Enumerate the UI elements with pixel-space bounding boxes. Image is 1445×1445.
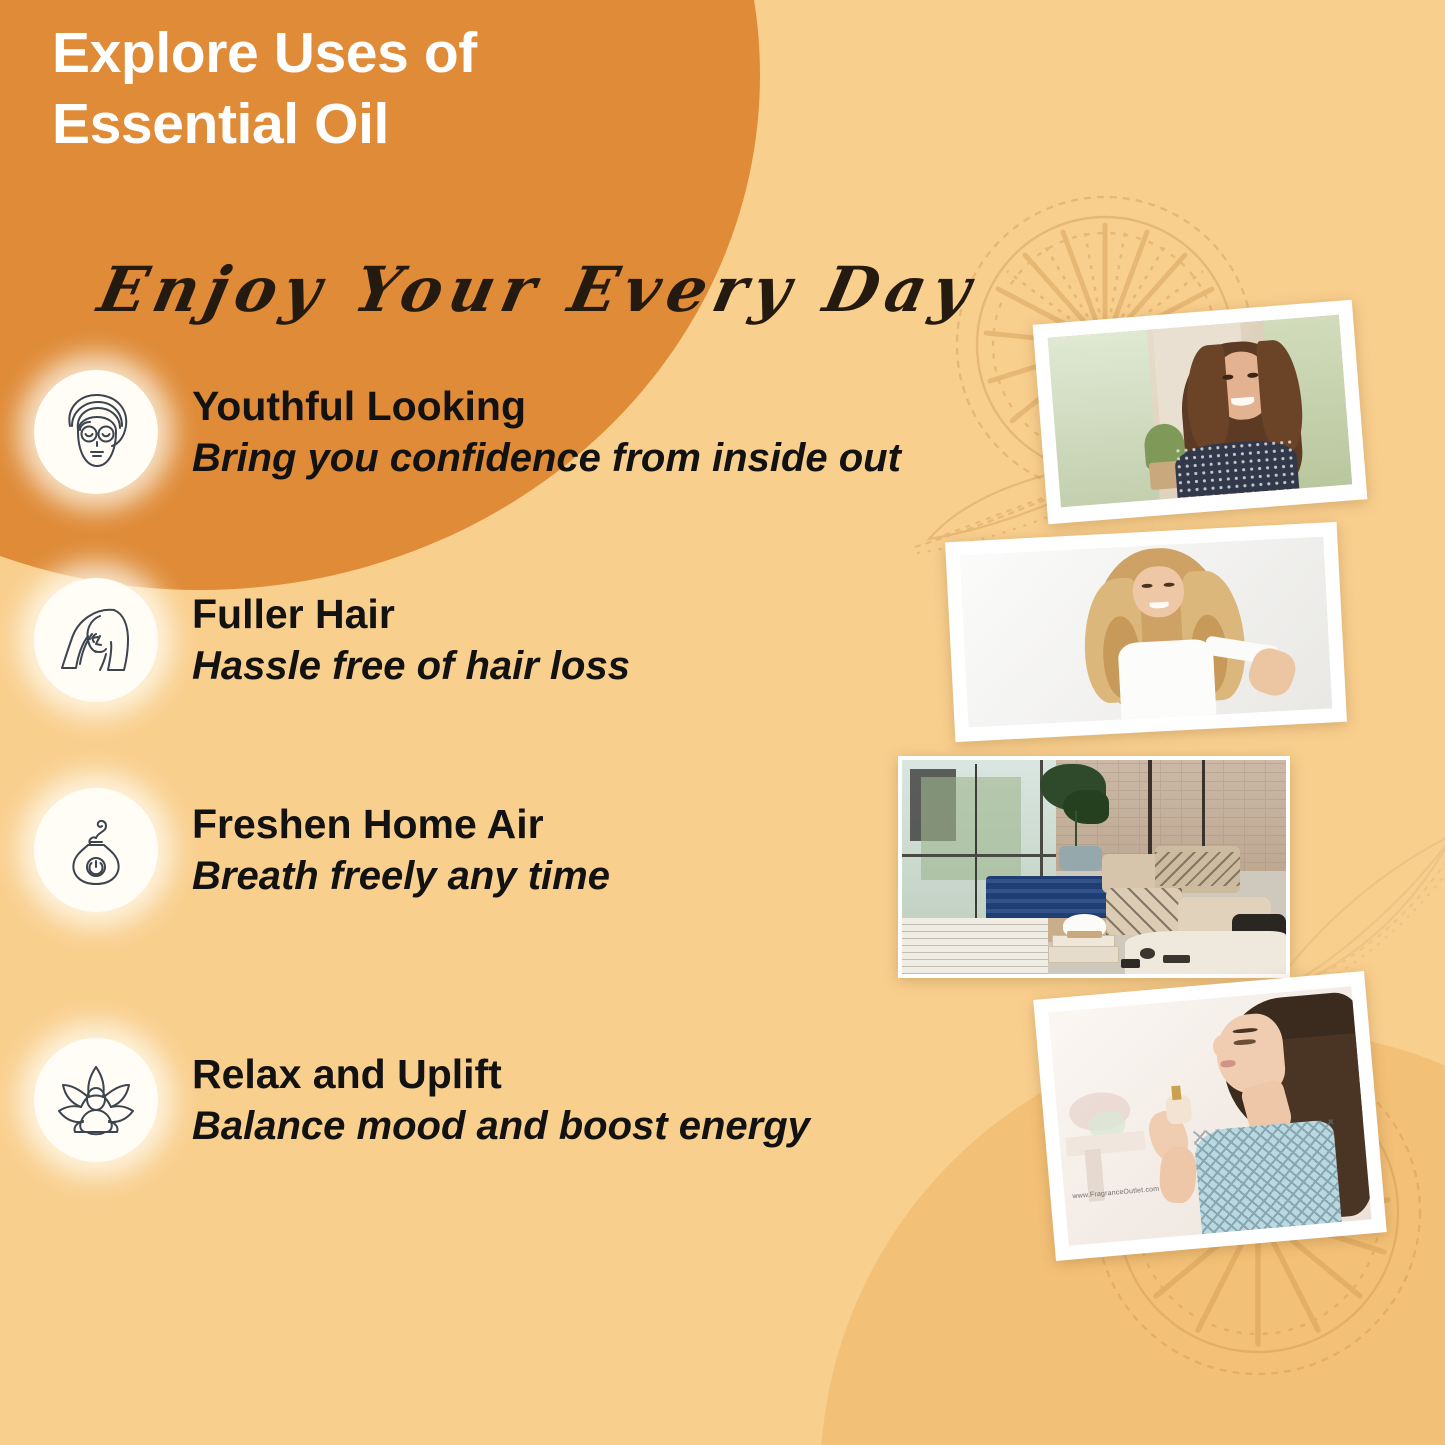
- tagline: Enjoy Your Every Day: [92, 253, 984, 326]
- benefit-text-freshen-home-air: Freshen Home Air Breath freely any time: [192, 800, 610, 899]
- photo-woman-applying-perfume: www.FragranceOutlet.com: [1033, 971, 1387, 1261]
- photo-smiling-woman: [1033, 300, 1368, 524]
- benefit-subtitle: Breath freely any time: [192, 852, 610, 900]
- benefit-title: Youthful Looking: [192, 382, 901, 430]
- benefit-title: Relax and Uplift: [192, 1050, 810, 1098]
- aroma-diffuser-icon: [34, 788, 158, 912]
- benefit-title: Fuller Hair: [192, 590, 630, 638]
- benefit-item-fuller-hair: Fuller Hair Hassle free of hair loss: [34, 578, 630, 702]
- page-title-line-1: Explore Uses of: [52, 18, 672, 89]
- benefit-item-freshen-home-air: Freshen Home Air Breath freely any time: [34, 788, 610, 912]
- benefit-title: Freshen Home Air: [192, 800, 610, 848]
- photo-wavy-blonde-hair: [945, 522, 1347, 742]
- benefit-text-youthful-looking: Youthful Looking Bring you confidence fr…: [192, 382, 901, 481]
- benefit-text-fuller-hair: Fuller Hair Hassle free of hair loss: [192, 590, 630, 689]
- infographic-canvas: Explore Uses of Essential Oil Enjoy Your…: [0, 0, 1445, 1445]
- page-title-line-2: Essential Oil: [52, 89, 672, 160]
- benefit-text-relax-and-uplift: Relax and Uplift Balance mood and boost …: [192, 1050, 810, 1149]
- photo-living-room-diffuser: [898, 756, 1290, 978]
- benefit-subtitle: Balance mood and boost energy: [192, 1102, 810, 1150]
- lotus-meditation-icon: [34, 1038, 158, 1162]
- benefit-subtitle: Hassle free of hair loss: [192, 642, 630, 690]
- benefit-item-relax-and-uplift: Relax and Uplift Balance mood and boost …: [34, 1038, 810, 1162]
- benefit-subtitle: Bring you confidence from inside out: [192, 434, 901, 482]
- page-title: Explore Uses of Essential Oil: [52, 18, 672, 159]
- face-mask-icon: [34, 370, 158, 494]
- benefit-item-youthful-looking: Youthful Looking Bring you confidence fr…: [34, 370, 901, 494]
- long-hair-profile-icon: [34, 578, 158, 702]
